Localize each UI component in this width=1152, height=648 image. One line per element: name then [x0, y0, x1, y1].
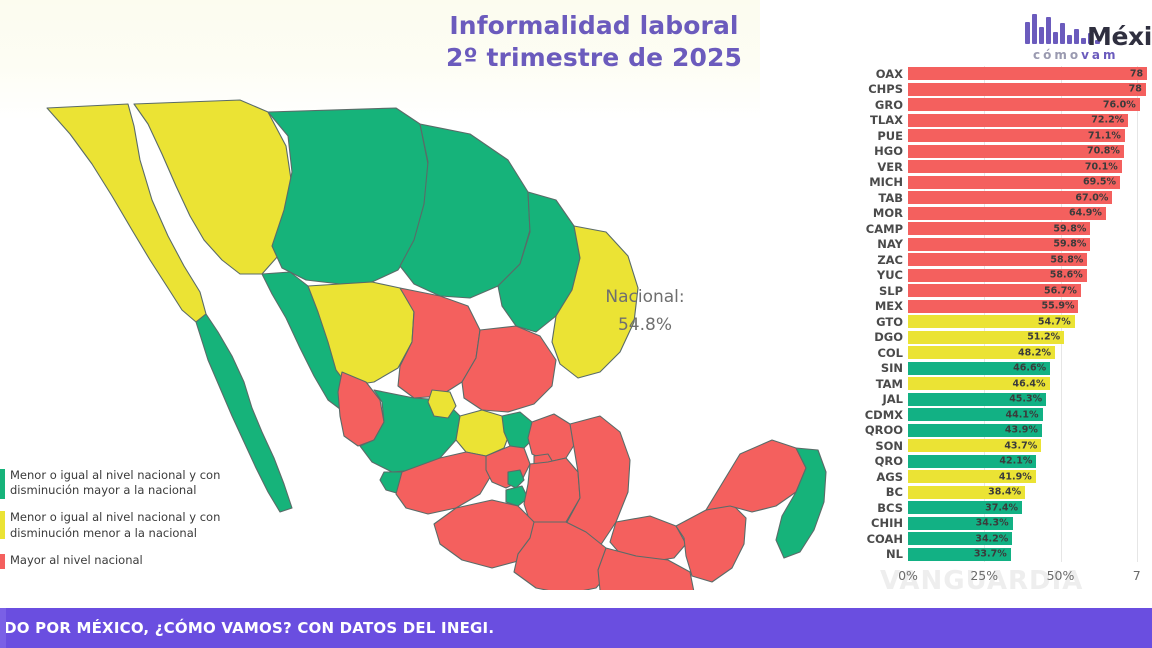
bar-chart-row: AGS41.9% — [908, 469, 1152, 485]
bar-category-label: PUE — [877, 129, 903, 143]
bar-value-label: 51.2% — [1027, 332, 1060, 343]
bar-category-label: ZAC — [877, 253, 903, 267]
legend-swatch-red — [0, 554, 5, 569]
bar-chart-row: ZAC58.8% — [908, 252, 1152, 268]
banner-text: BORADO POR MÉXICO, ¿CÓMO VAMOS? CON DATO… — [0, 619, 494, 637]
bar — [908, 67, 1147, 80]
bar-value-label: 64.9% — [1069, 208, 1102, 219]
bar-value-label: 58.6% — [1050, 270, 1083, 281]
bar-chart-row: SLP56.7% — [908, 283, 1152, 299]
bar-value-label: 54.7% — [1038, 316, 1071, 327]
logo-subtitle-left: cómo — [1033, 48, 1081, 62]
legend-swatch-yellow — [0, 511, 5, 539]
bar-chart-row: GTO54.7% — [908, 314, 1152, 330]
bar-chart-row: DGO51.2% — [908, 330, 1152, 346]
bar-chart-row: YUC58.6% — [908, 268, 1152, 284]
bar-category-label: MICH — [869, 175, 903, 189]
bar-category-label: HGO — [874, 144, 903, 158]
bar-chart-row: PUE71.1% — [908, 128, 1152, 144]
bar-category-label: SIN — [881, 361, 903, 375]
bar-chart-row: MICH69.5% — [908, 175, 1152, 191]
bar-value-label: 72.2% — [1091, 115, 1124, 126]
bar-chart-row: CDMX44.1% — [908, 407, 1152, 423]
national-label: Nacional: — [560, 283, 730, 311]
bar-chart-row: MOR64.9% — [908, 206, 1152, 222]
bar-value-label: 41.9% — [999, 471, 1032, 482]
bar-value-label: 59.8% — [1053, 223, 1086, 234]
legend-item-green: Menor o igual al nivel nacional y con di… — [0, 468, 300, 498]
bar-category-label: OAX — [876, 67, 903, 81]
bar-value-label: 46.6% — [1013, 363, 1046, 374]
state-ranking-bar-chart: OAX78CHPS78GRO76.0%TLAX72.2%PUE71.1%HGO7… — [862, 66, 1152, 596]
bar-value-label: 42.1% — [999, 456, 1032, 467]
bar-chart-row: OAX78 — [908, 66, 1152, 82]
bar-chart-row: QROO43.9% — [908, 423, 1152, 439]
bar-category-label: SON — [875, 439, 903, 453]
legend-label-green: Menor o igual al nivel nacional y con di… — [10, 468, 260, 498]
bar-chart-row: TLAX72.2% — [908, 113, 1152, 129]
bar-chart-row: NL33.7% — [908, 547, 1152, 563]
legend-item-yellow: Menor o igual al nivel nacional y con di… — [0, 510, 300, 540]
bar-value-label: 48.2% — [1018, 347, 1051, 358]
bar-chart-row: TAB67.0% — [908, 190, 1152, 206]
bar-category-label: NAY — [877, 237, 903, 251]
bar-chart-row: NAY59.8% — [908, 237, 1152, 253]
map-legend: Menor o igual al nivel nacional y con di… — [0, 468, 300, 580]
bar-category-label: CAMP — [866, 222, 903, 236]
bar-chart-row: BCS37.4% — [908, 500, 1152, 516]
logo-wordmark: Méxi — [1087, 22, 1152, 51]
bar-category-label: BCS — [877, 501, 903, 515]
legend-label-yellow: Menor o igual al nivel nacional y con di… — [10, 510, 260, 540]
bar-value-label: 38.4% — [988, 487, 1021, 498]
banner-edge — [0, 608, 6, 648]
bar-chart-row: SON43.7% — [908, 438, 1152, 454]
logo-subtitle-right: vam — [1081, 48, 1118, 62]
bar-category-label: TAB — [878, 191, 903, 205]
bar-chart-row: COL48.2% — [908, 345, 1152, 361]
bar-value-label: 34.3% — [976, 518, 1009, 529]
bar-value-label: 58.8% — [1050, 254, 1083, 265]
logo-subtitle: cómovam — [1033, 48, 1119, 62]
bar-value-label: 33.7% — [974, 549, 1007, 560]
bar-category-label: CDMX — [865, 408, 903, 422]
bar-category-label: MOR — [873, 206, 903, 220]
bar-chart-row: SIN46.6% — [908, 361, 1152, 377]
bar-chart-row: MEX55.9% — [908, 299, 1152, 315]
x-axis-tick: 50% — [1047, 568, 1075, 583]
bar-chart-row: VER70.1% — [908, 159, 1152, 175]
bar-value-label: 56.7% — [1044, 285, 1077, 296]
bar-value-label: 70.8% — [1087, 146, 1120, 157]
bar-value-label: 46.4% — [1013, 378, 1046, 389]
bar-chart-row: QRO42.1% — [908, 454, 1152, 470]
bar-chart-x-axis: 0%25%50%7 — [908, 568, 1152, 590]
mexico-como-vamos-logo: Méxi cómovam — [1025, 8, 1152, 64]
bar-value-label: 76.0% — [1103, 99, 1136, 110]
bar-chart-row: BC38.4% — [908, 485, 1152, 501]
bar-value-label: 69.5% — [1083, 177, 1116, 188]
bar-value-label: 43.9% — [1005, 425, 1038, 436]
source-banner: BORADO POR MÉXICO, ¿CÓMO VAMOS? CON DATO… — [0, 608, 1152, 648]
national-figure: Nacional: 54.8% — [560, 283, 730, 339]
bar-category-label: QROO — [865, 423, 903, 437]
bar-value-label: 59.8% — [1053, 239, 1086, 250]
bar-category-label: TAM — [876, 377, 903, 391]
national-value: 54.8% — [560, 311, 730, 339]
bar-value-label: 71.1% — [1088, 130, 1121, 141]
bar-category-label: COL — [877, 346, 903, 360]
bar-chart-row: CHPS78 — [908, 82, 1152, 98]
title-line-1: Informalidad laboral — [449, 11, 738, 40]
bar-chart-row: GRO76.0% — [908, 97, 1152, 113]
bar-category-label: TLAX — [870, 113, 903, 127]
x-axis-tick: 7 — [1133, 568, 1141, 583]
bar-category-label: VER — [877, 160, 903, 174]
legend-item-red: Mayor al nivel nacional — [0, 553, 300, 568]
bar-value-label: 45.3% — [1009, 394, 1042, 405]
bar-category-label: COAH — [867, 532, 903, 546]
bar-category-label: QRO — [875, 454, 903, 468]
bar-chart-row: CHIH34.3% — [908, 516, 1152, 532]
bar-category-label: DGO — [874, 330, 903, 344]
bar-category-label: BC — [886, 485, 903, 499]
bar-category-label: MEX — [875, 299, 903, 313]
bar-category-label: SLP — [879, 284, 903, 298]
bar-category-label: YUC — [877, 268, 903, 282]
bar-category-label: CHIH — [871, 516, 903, 530]
bar-value-label: 34.2% — [975, 533, 1008, 544]
bar-chart-row: CAMP59.8% — [908, 221, 1152, 237]
bar-category-label: NL — [886, 547, 903, 561]
bar-chart-row: JAL45.3% — [908, 392, 1152, 408]
x-axis-tick: 25% — [970, 568, 998, 583]
bar-category-label: CHPS — [868, 82, 903, 96]
x-axis-tick: 0% — [898, 568, 918, 583]
bar-chart-plot-area: OAX78CHPS78GRO76.0%TLAX72.2%PUE71.1%HGO7… — [908, 66, 1152, 562]
bar-category-label: JAL — [882, 392, 903, 406]
bar-category-label: AGS — [876, 470, 903, 484]
bar — [908, 83, 1146, 96]
state-hidalgo — [528, 414, 576, 462]
bar-category-label: GTO — [876, 315, 903, 329]
bar-value-label: 78 — [1129, 84, 1142, 95]
legend-swatch-green — [0, 469, 5, 499]
bar-value-label: 37.4% — [985, 502, 1018, 513]
bar-value-label: 44.1% — [1006, 409, 1039, 420]
infographic-stage: Informalidad laboral 2º trimestre de 202… — [0, 0, 1152, 648]
bar-value-label: 70.1% — [1085, 161, 1118, 172]
bar-value-label: 55.9% — [1042, 301, 1075, 312]
legend-label-red: Mayor al nivel nacional — [10, 553, 143, 568]
state-cdmx — [508, 470, 524, 488]
bar-chart-row: HGO70.8% — [908, 144, 1152, 160]
bar-value-label: 78 — [1130, 68, 1143, 79]
bar-category-label: GRO — [875, 98, 903, 112]
bar-value-label: 43.7% — [1004, 440, 1037, 451]
bar-value-label: 67.0% — [1075, 192, 1108, 203]
bar-chart-row: TAM46.4% — [908, 376, 1152, 392]
bar-chart-row: COAH34.2% — [908, 531, 1152, 547]
